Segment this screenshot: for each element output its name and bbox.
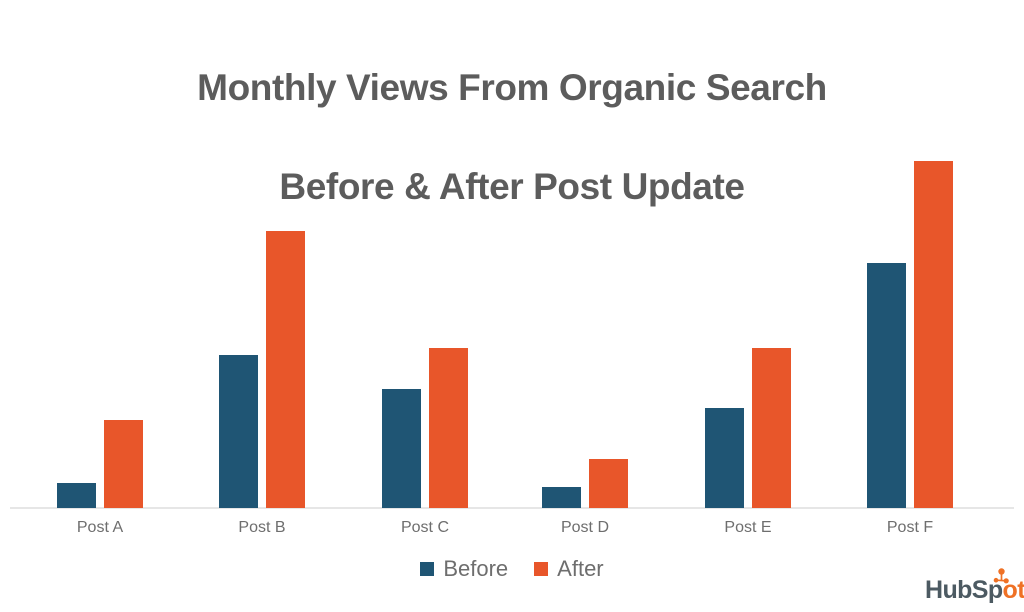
bar-post-c-after [429, 348, 468, 508]
plot-area: Post APost BPost CPost DPost EPost F [0, 0, 1024, 612]
x-axis-label-post-c: Post C [365, 519, 485, 537]
bar-post-f-after [914, 161, 953, 508]
legend-swatch-after [534, 562, 548, 576]
bar-post-b-before [219, 355, 258, 508]
legend-label-before: Before [443, 558, 508, 580]
x-axis-label-post-a: Post A [40, 519, 160, 537]
legend-item-after[interactable]: After [534, 558, 603, 580]
chart-legend: BeforeAfter [0, 558, 1024, 580]
x-axis-label-post-d: Post D [525, 519, 645, 537]
x-axis-label-post-f: Post F [850, 519, 970, 537]
x-axis-label-post-e: Post E [688, 519, 808, 537]
bar-post-a-after [104, 420, 143, 508]
bar-post-e-after [752, 348, 791, 508]
bar-post-c-before [382, 389, 421, 508]
x-axis-line [10, 507, 1014, 509]
bar-post-f-before [867, 263, 906, 508]
legend-swatch-before [420, 562, 434, 576]
hubspot-logo: HubSp ot [925, 571, 1024, 603]
bar-post-e-before [705, 408, 744, 508]
bar-post-a-before [57, 483, 96, 508]
sprocket-icon [980, 567, 1010, 597]
legend-item-before[interactable]: Before [420, 558, 508, 580]
chart-page: Monthly Views From Organic Search Before… [0, 0, 1024, 612]
bar-post-d-before [542, 487, 581, 508]
x-axis-label-post-b: Post B [202, 519, 322, 537]
legend-label-after: After [557, 558, 603, 580]
bar-post-b-after [266, 231, 305, 508]
bar-post-d-after [589, 459, 628, 508]
